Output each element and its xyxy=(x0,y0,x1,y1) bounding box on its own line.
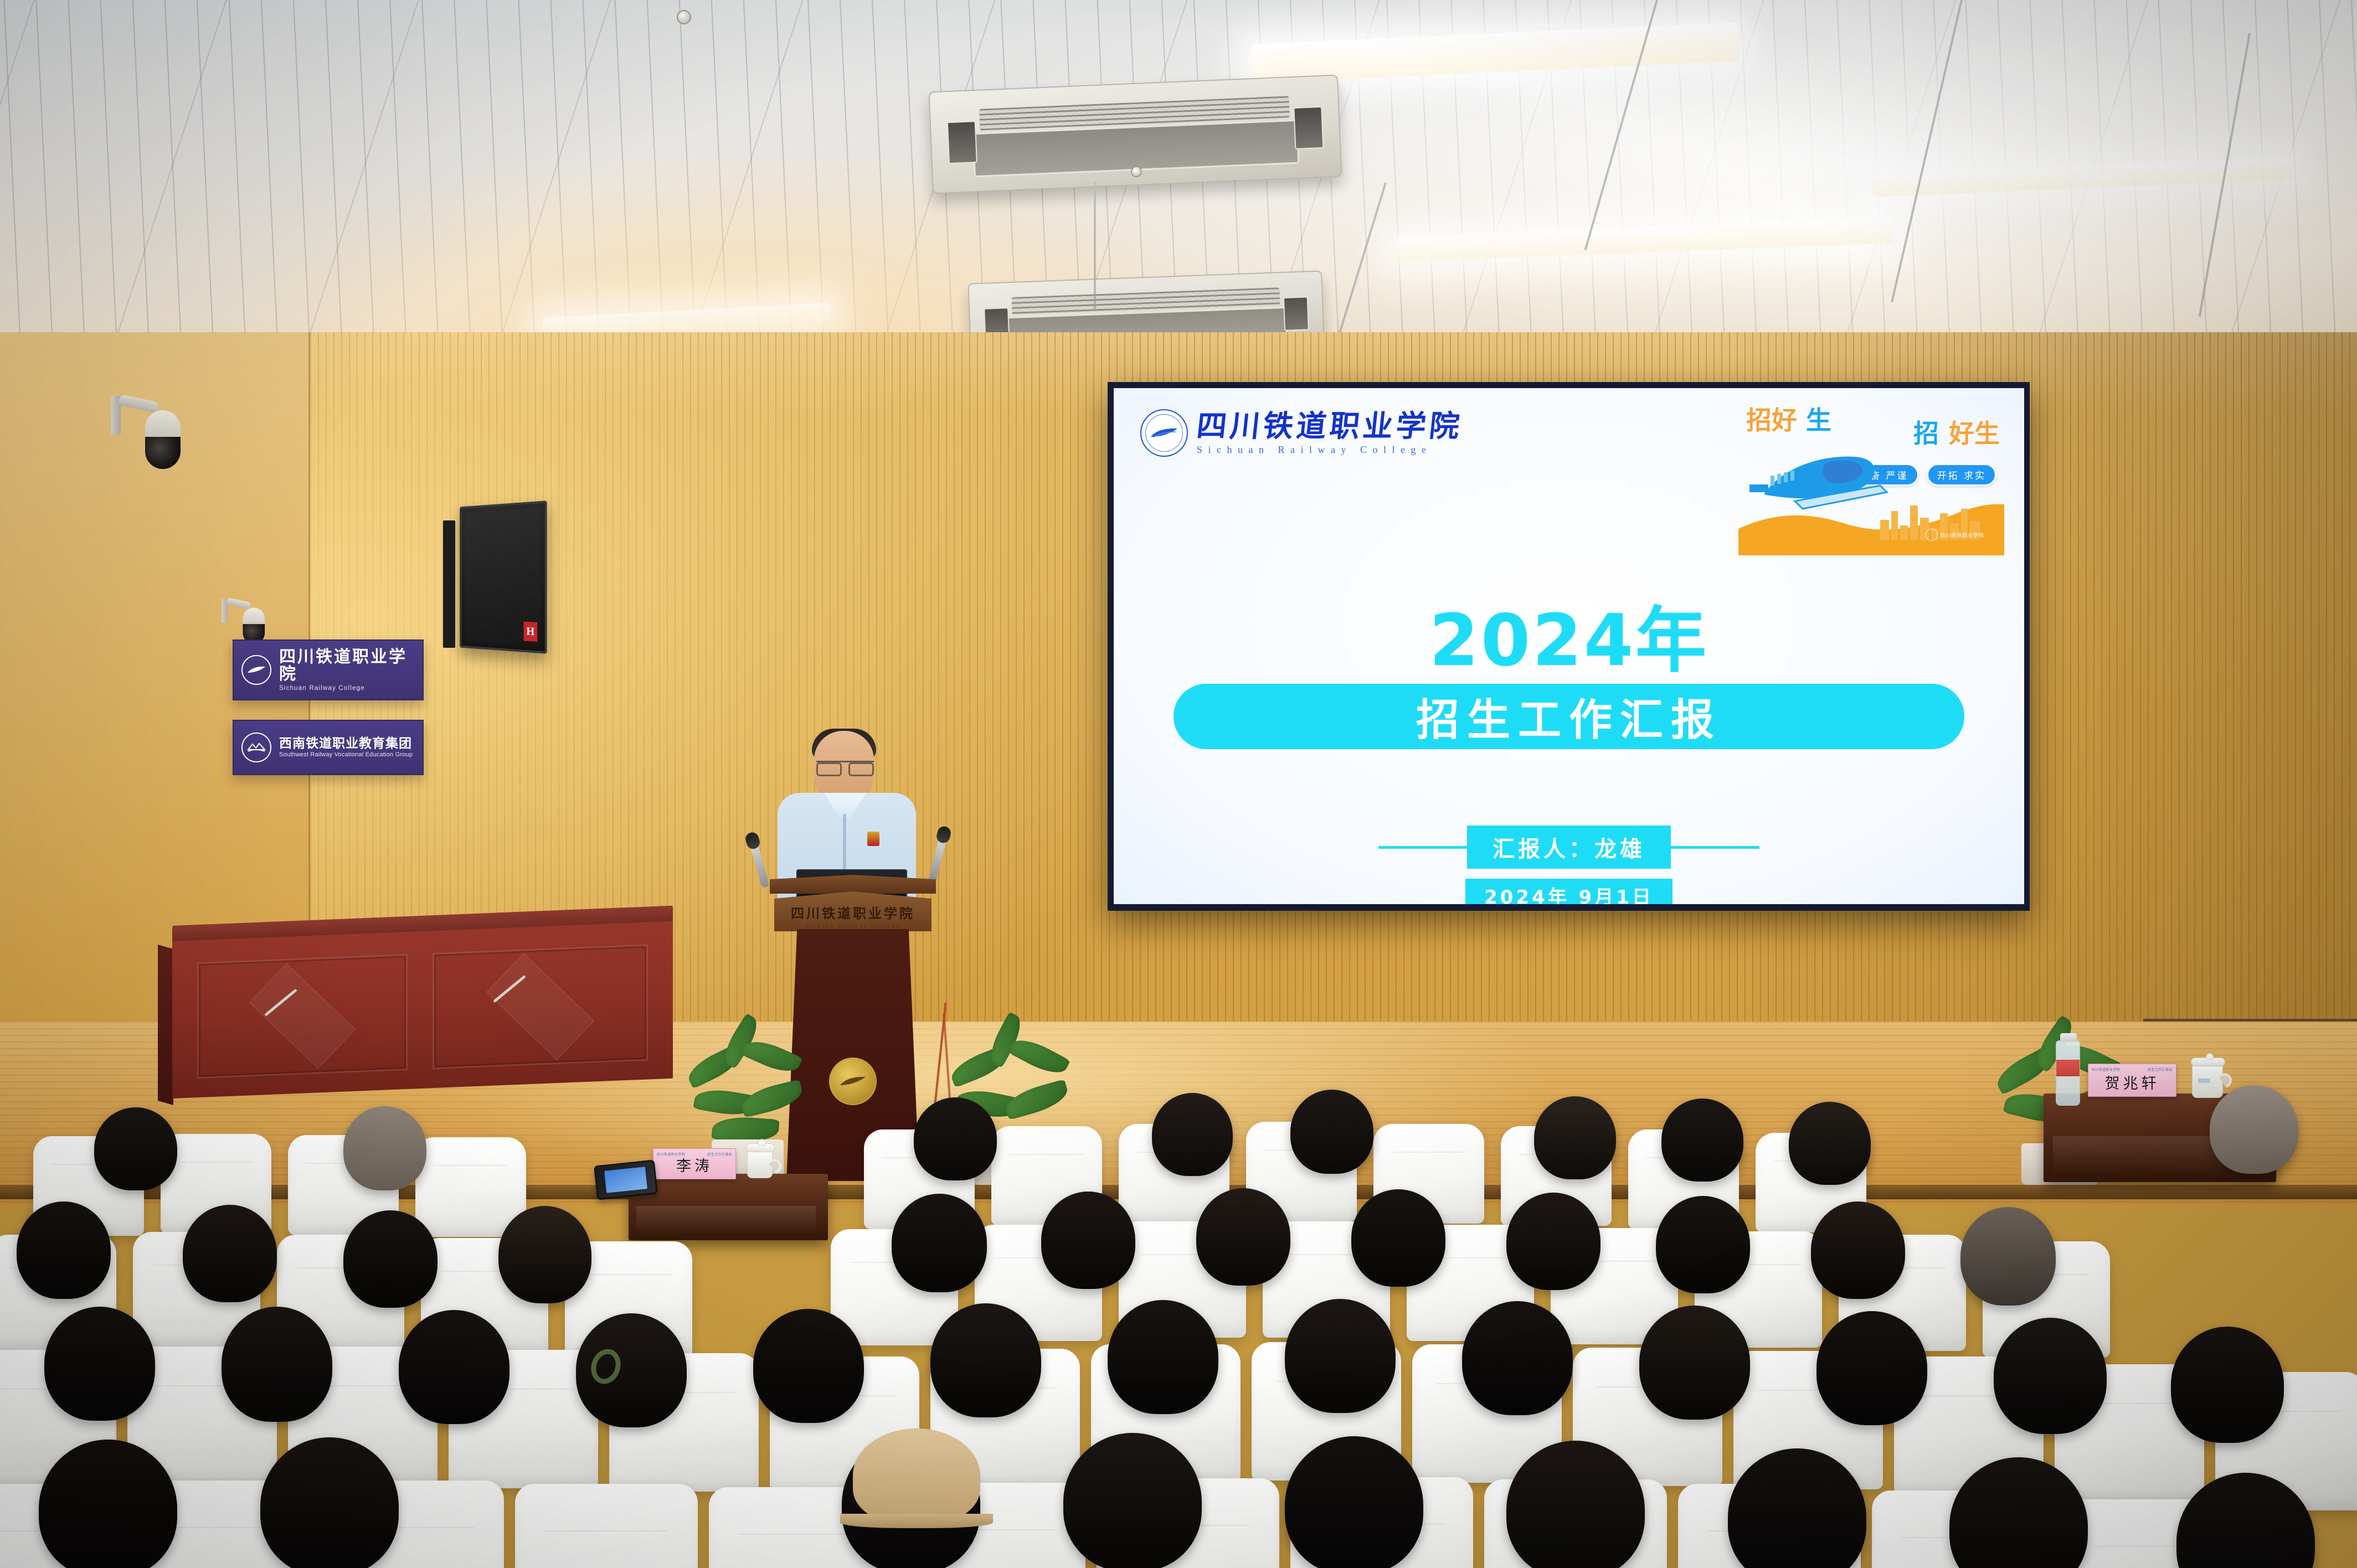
water-bottle-icon xyxy=(2056,1040,2080,1106)
audience-head xyxy=(914,1097,997,1180)
audience-head xyxy=(222,1307,332,1422)
plant-leaf xyxy=(1007,1033,1071,1080)
audience-head xyxy=(1152,1093,1233,1176)
ceiling-hanger-rod xyxy=(1094,182,1096,309)
cabinet-diamond-inlay xyxy=(486,953,595,1060)
baseball-cap-icon xyxy=(853,1428,980,1523)
audience-head xyxy=(1506,1193,1601,1290)
train-seal-icon xyxy=(1140,409,1188,457)
campaign-text-orange: 招好 xyxy=(1746,400,1797,437)
campaign-text-orange: 好生 xyxy=(1949,414,2000,450)
audience-seating xyxy=(0,1141,2357,1568)
audience-head xyxy=(1789,1102,1871,1185)
slide-college-logo: 四川铁道职业学院 Sichuan Railway College xyxy=(1140,409,1463,457)
sprinkler-head-icon xyxy=(1131,166,1142,177)
ac-side-vent-icon xyxy=(1293,106,1324,149)
audience-head xyxy=(1661,1098,1743,1182)
nameplate-header: 四川铁道职业学院 招生工作汇报会 xyxy=(2092,1066,2173,1072)
ac-side-vent-icon xyxy=(1283,296,1309,331)
audience-head xyxy=(1041,1192,1135,1289)
speaker-brand-mark: H xyxy=(523,622,537,642)
wall-sign-name-cn: 西南铁道职业教育集团 xyxy=(279,737,413,750)
audience-head xyxy=(1811,1201,1905,1299)
audience-head xyxy=(2210,1085,2298,1174)
campaign-mini-logo-text: 四川铁道职业学院 xyxy=(1940,532,1984,539)
wall-speaker-icon: H xyxy=(460,501,547,654)
audience-head xyxy=(1285,1436,1423,1568)
audience-head xyxy=(183,1205,277,1302)
ac-side-vent-icon xyxy=(947,121,977,164)
audience-head xyxy=(94,1107,177,1190)
camera-lens-dome xyxy=(145,437,181,469)
audience-head xyxy=(343,1106,426,1190)
bottle-cap xyxy=(2060,1033,2077,1042)
audience-head xyxy=(1290,1090,1373,1174)
wall-sign-name-cn: 四川铁道职业学院 xyxy=(279,648,415,683)
audience-head xyxy=(1816,1311,1927,1425)
nameplate-name: 贺兆轩 xyxy=(2105,1071,2160,1093)
glasses-icon xyxy=(816,761,874,772)
podium-name-cn: 四川铁道职业学院 xyxy=(791,902,915,922)
table-nameplate: 四川铁道职业学院 招生工作汇报会 贺兆轩 xyxy=(2088,1064,2176,1097)
train-seal-icon xyxy=(1926,529,1938,541)
audience-head xyxy=(17,1201,111,1299)
presenter-rule-left xyxy=(1378,846,1467,849)
speaker-mount-bracket xyxy=(443,520,455,648)
plant-leaf xyxy=(739,1079,805,1118)
presenter-rule-right xyxy=(1671,846,1759,849)
audience-head xyxy=(260,1437,399,1568)
audience-head xyxy=(1196,1188,1290,1286)
college-gold-seal-icon xyxy=(829,1058,877,1105)
cabinet-panel xyxy=(433,944,648,1069)
sprinkler-head-icon xyxy=(677,10,691,24)
campaign-line-1: 招好 生 xyxy=(1746,400,1831,437)
nameplate-header-right: 招生工作汇报会 xyxy=(2148,1067,2173,1072)
wall-sign-education-group: 西南铁道职业教育集团 Southwest Railway Vocational … xyxy=(233,720,424,775)
slide-presenter-text: 汇报人：龙雄 xyxy=(1467,826,1671,869)
audience-head xyxy=(498,1206,591,1303)
audience-head xyxy=(2171,1327,2284,1443)
audience-head xyxy=(1534,1096,1616,1179)
podium-name-en: Sichuan Railway College xyxy=(805,923,900,929)
slide-logo-name-en: Sichuan Railway College xyxy=(1197,445,1463,455)
wall-sign-name-en: Southwest Railway Vocational Education G… xyxy=(279,752,413,759)
cabinet-diamond-inlay xyxy=(249,963,356,1069)
nameplate-header-left: 四川铁道职业学院 xyxy=(2092,1067,2120,1072)
campaign-mini-logo: 四川铁道职业学院 xyxy=(1926,529,1984,541)
campaign-line-2: 招 好生 xyxy=(1913,414,2000,450)
audience-head xyxy=(892,1194,987,1292)
camera-arm xyxy=(118,394,159,414)
ptz-dome-camera-icon xyxy=(111,390,188,490)
phone-screen xyxy=(604,1167,648,1193)
seat xyxy=(515,1484,698,1568)
smartphone-recording-icon xyxy=(594,1159,658,1200)
slide-title-pill: 招生工作汇报 xyxy=(1174,684,1964,749)
slide-date-row: 2024年 9月1日 xyxy=(1114,879,2024,904)
wall-sign-college: 四川铁道职业学院 Sichuan Railway College xyxy=(233,639,424,700)
slide-title-text: 招生工作汇报 xyxy=(1416,685,1722,747)
campaign-text-blue: 生 xyxy=(1806,400,1831,437)
slide-logo-name-cn: 四川铁道职业学院 xyxy=(1195,411,1464,441)
auditorium-scene: H 四川铁道职业学院 Sichuan Railway College 西南铁道职… xyxy=(0,0,2357,1568)
plant-leaf xyxy=(1002,1079,1071,1120)
bottle-label xyxy=(2056,1060,2080,1076)
projection-screen[interactable]: 四川铁道职业学院 Sichuan Railway College 招好 生 招 … xyxy=(1108,382,2030,911)
stage-console-cabinet xyxy=(158,926,673,1108)
teacup-knob xyxy=(2206,1053,2214,1060)
audience-head xyxy=(1639,1306,1750,1420)
audience-head xyxy=(1656,1196,1750,1293)
slide-year-heading: 2024年 xyxy=(1114,583,2024,685)
slide-campaign-art: 招好 生 招 好生 勤奋 严谨 开拓 求实 xyxy=(1742,398,2002,564)
audience-head xyxy=(1351,1189,1445,1287)
audience-head xyxy=(1063,1433,1202,1568)
wall-sign-name-en: Sichuan Railway College xyxy=(279,685,415,692)
audience-head xyxy=(39,1440,177,1568)
teacup-logo-mark xyxy=(2198,1079,2210,1083)
podium-name-plaque: 四川铁道职业学院 Sichuan Railway College xyxy=(774,891,932,931)
audience-head xyxy=(930,1303,1041,1417)
tea-cup-icon xyxy=(2192,1064,2223,1098)
audience-head xyxy=(399,1310,510,1424)
audience-head xyxy=(44,1307,155,1421)
mountain-seal-icon xyxy=(241,733,271,762)
slide-date-text: 2024年 9月1日 xyxy=(1465,879,1672,904)
presentation-slide: 四川铁道职业学院 Sichuan Railway College 招好 生 招 … xyxy=(1114,388,2024,904)
cabinet-front xyxy=(172,921,673,1098)
audience-head xyxy=(343,1210,438,1308)
lapel-pin-icon xyxy=(867,832,879,846)
camera-arm xyxy=(226,597,251,609)
cabinet-panel xyxy=(197,954,408,1079)
audience-head xyxy=(1994,1318,2107,1434)
audience-head xyxy=(1462,1301,1573,1415)
campaign-text-blue: 招 xyxy=(1913,414,1939,450)
podium-desktop xyxy=(770,875,936,894)
slide-presenter-row: 汇报人：龙雄 xyxy=(1114,826,2024,869)
audience-head xyxy=(1108,1300,1218,1414)
train-seal-icon xyxy=(241,655,271,685)
campaign-badge: 开拓 求实 xyxy=(1927,463,1996,486)
ceiling xyxy=(0,0,2357,354)
audience-head xyxy=(1960,1207,2056,1306)
cabinet-side xyxy=(158,945,173,1105)
audience-head xyxy=(753,1309,864,1423)
audience-head xyxy=(1285,1299,1396,1413)
